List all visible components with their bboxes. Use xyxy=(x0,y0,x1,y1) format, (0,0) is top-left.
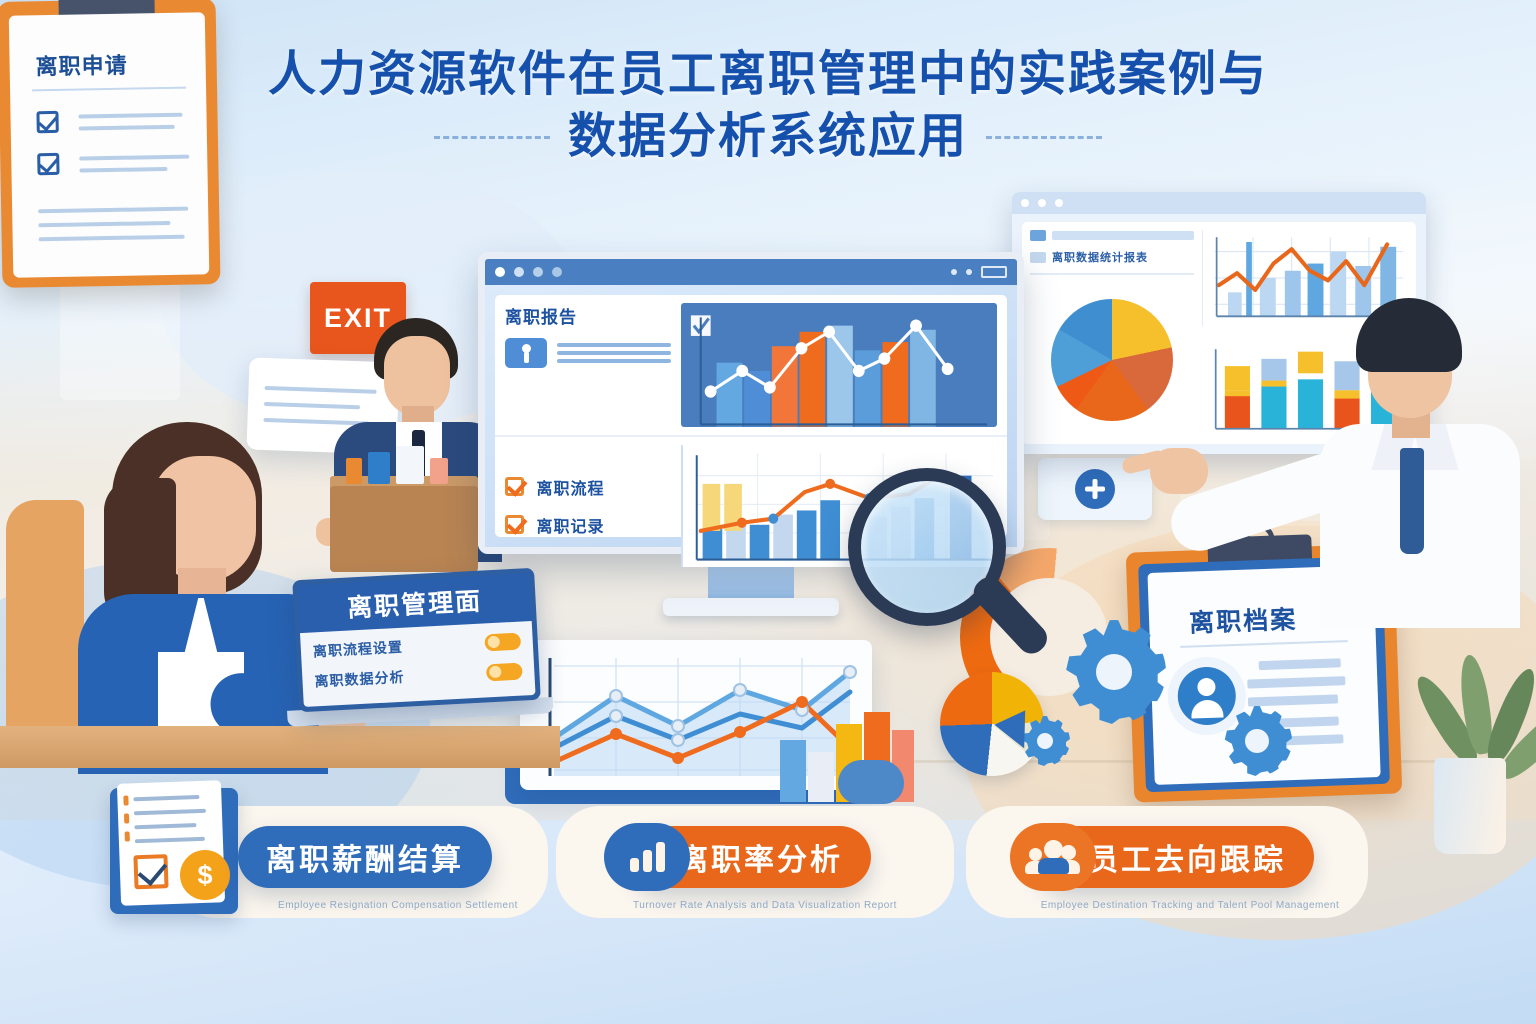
people-group-icon xyxy=(1025,840,1081,874)
badge-destination-label: 员工去向跟踪 xyxy=(1088,835,1286,879)
poster-canvas: 人力资源软件在员工离职管理中的实践案例与 数据分析系统应用 离职申请 xyxy=(0,0,1536,1024)
monitor-report-section: 离职报告 xyxy=(505,303,671,427)
dashboard-legend-row-2: 离职数据统计报表 xyxy=(1030,249,1194,265)
bar-chart-icon-wrap xyxy=(604,823,690,891)
people-center-body xyxy=(1038,858,1069,874)
orange-checkbox-1[interactable] xyxy=(505,477,524,496)
window-dot-2[interactable] xyxy=(514,267,524,277)
laptop-screen[interactable]: 离职管理面 离职流程设置 离职数据分析 xyxy=(292,568,541,712)
office-desk xyxy=(0,726,560,768)
legend-swatch-1 xyxy=(1030,230,1046,241)
bar-chart-icon xyxy=(630,842,665,872)
right-line-2 xyxy=(1247,676,1345,688)
badge-turnover-subtitle: Turnover Rate Analysis and Data Visualiz… xyxy=(600,900,930,911)
bar-3d-1 xyxy=(780,740,806,802)
badge-settlement-subtitle: Employee Resignation Compensation Settle… xyxy=(228,900,568,911)
box-item-2 xyxy=(368,452,390,484)
laptop-setting-label-2: 离职数据分析 xyxy=(314,667,405,692)
laptop-toggle-2[interactable] xyxy=(486,662,523,681)
badge-settlement-label: 离职薪酬结算 xyxy=(266,835,464,879)
analyst-tie xyxy=(1400,448,1424,554)
right-line-1 xyxy=(1259,658,1341,670)
gear-hub xyxy=(1096,654,1132,690)
money-tick-2 xyxy=(124,813,129,823)
user-avatar-icon xyxy=(1177,666,1237,726)
money-line-1 xyxy=(133,795,199,801)
dashboard-dot-1[interactable] xyxy=(1021,199,1029,207)
right-line-3 xyxy=(1248,694,1338,706)
money-tick-3 xyxy=(125,831,130,841)
employee-badge-icon xyxy=(505,338,547,368)
badge-turnover-analysis[interactable]: 离职率分析 xyxy=(632,826,871,888)
badge-destination-tracking[interactable]: 员工去向跟踪 xyxy=(1038,826,1314,888)
dashboard-dot-2[interactable] xyxy=(1038,199,1046,207)
window-control-close-icon[interactable] xyxy=(981,266,1007,278)
laptop-setting-row-1[interactable]: 离职流程设置 xyxy=(312,631,521,662)
monitor-top-chart xyxy=(681,303,997,427)
monitor-top-chart-svg xyxy=(681,303,997,427)
monitor-window-title: 离职报告 xyxy=(505,303,671,328)
monitor-checkbox-row-2[interactable]: 离职记录 xyxy=(505,513,671,537)
money-checkbox-icon xyxy=(133,854,168,889)
plant-pot xyxy=(1434,758,1506,854)
dashboard-pie-chart xyxy=(1030,283,1194,436)
dashboard-dot-3[interactable] xyxy=(1055,199,1063,207)
monitor-checklist-section: 离职流程 离职记录 xyxy=(505,445,671,568)
plus-icon[interactable] xyxy=(1075,469,1115,509)
window-dot-1[interactable] xyxy=(495,267,505,277)
report-line-3 xyxy=(557,359,671,363)
bar-3d-2 xyxy=(808,752,834,802)
monitor-checkbox-row-1[interactable]: 离职流程 xyxy=(505,475,671,499)
dashboard-legend-row-1 xyxy=(1030,230,1194,241)
monitor-base xyxy=(663,598,839,616)
monitor-top-row: 离职报告 xyxy=(495,295,1007,435)
people-group-icon-wrap xyxy=(1010,823,1096,891)
monitor-checkbox-label-1: 离职流程 xyxy=(536,481,604,498)
orange-checkbox-2[interactable] xyxy=(505,515,524,534)
window-dot-3[interactable] xyxy=(533,267,543,277)
money-tick-1 xyxy=(123,795,128,805)
money-line-4 xyxy=(135,837,205,843)
analyst-hair xyxy=(1356,298,1462,372)
clipboard-text-line-5 xyxy=(38,207,188,214)
magnifier-glass[interactable] xyxy=(848,468,1006,626)
dashboard-legend-label: 离职数据统计报表 xyxy=(1052,249,1148,265)
clipboard-text-line-7 xyxy=(39,235,185,242)
dollar-coin-icon: $ xyxy=(180,850,230,900)
dashboard-titlebar xyxy=(1012,192,1426,214)
money-line-2 xyxy=(134,809,206,816)
window-control-minimize-icon[interactable] xyxy=(951,269,957,275)
monitor-checkbox-label-2: 离职记录 xyxy=(536,519,604,536)
pie-chart-circle xyxy=(1051,299,1173,421)
laptop-setting-row-2[interactable]: 离职数据分析 xyxy=(314,661,523,692)
badge-settlement-pill[interactable]: 离职薪酬结算 xyxy=(238,826,492,888)
box-item-4 xyxy=(430,458,448,484)
right-clipboard-rule xyxy=(1180,640,1348,648)
monitor-window-titlebar xyxy=(485,259,1017,285)
laptop-header-label: 离职管理面 xyxy=(346,582,483,625)
computer-mouse[interactable] xyxy=(838,760,904,804)
right-clipboard-title: 离职档案 xyxy=(1189,600,1298,640)
window-dot-4[interactable] xyxy=(552,267,562,277)
laptop-device[interactable]: 离职管理面 离职流程设置 离职数据分析 xyxy=(292,568,542,730)
analyst-presenting-dashboard xyxy=(1300,298,1536,628)
money-line-3 xyxy=(134,823,196,829)
box-item-3 xyxy=(396,446,424,484)
dashboard-left-column: 离职数据统计报表 xyxy=(1030,230,1194,436)
report-line-1 xyxy=(557,343,671,347)
badge-settlement[interactable]: 离职薪酬结算 xyxy=(238,826,492,888)
laptop-toggle-1[interactable] xyxy=(484,632,521,651)
title-line-1: 人力资源软件在员工离职管理中的实践案例与 xyxy=(0,44,1536,106)
poster-title: 人力资源软件在员工离职管理中的实践案例与 数据分析系统应用 xyxy=(0,44,1536,168)
window-control-maximize-icon[interactable] xyxy=(966,269,972,275)
laptop-settings-body: 离职流程设置 离职数据分析 xyxy=(300,621,536,707)
money-clipboard-icon: $ xyxy=(110,788,238,914)
title-dash-right xyxy=(986,136,1102,139)
report-line-2 xyxy=(557,351,671,355)
title-dash-left xyxy=(434,136,550,139)
badge-destination-subtitle: Employee Destination Tracking and Talent… xyxy=(1010,900,1370,911)
legend-swatch-2 xyxy=(1030,252,1046,263)
badge-turnover-label: 离职率分析 xyxy=(678,835,843,879)
man-face xyxy=(384,336,450,416)
gear-hub-small xyxy=(1245,729,1269,753)
dashboard-divider xyxy=(1030,273,1194,275)
legend-bar-1 xyxy=(1052,231,1194,240)
title-line-2: 数据分析系统应用 xyxy=(568,106,968,168)
clipboard-text-line-6 xyxy=(38,221,170,227)
avatar xyxy=(1166,656,1247,737)
laptop-setting-label-1: 离职流程设置 xyxy=(312,637,403,662)
